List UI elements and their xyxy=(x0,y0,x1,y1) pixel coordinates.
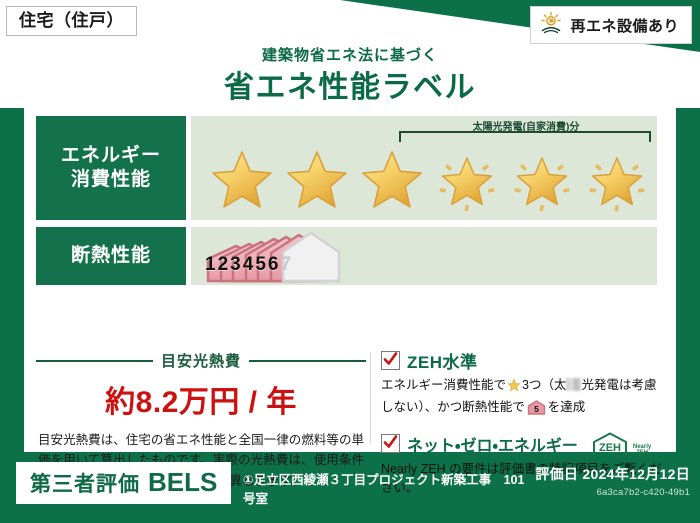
zeh-logo-icon: ZEH Nearly ZEH xyxy=(589,431,651,457)
insulation-level-1: 1 xyxy=(205,254,216,283)
evaluation-date: 評価日 2024年12月12日 xyxy=(535,464,690,484)
zeh-desc-part5: を達成 xyxy=(548,400,586,414)
zeh-desc-part2: 3つ（太 xyxy=(522,378,566,392)
zeh-desc-part3: 光発電 xyxy=(581,378,619,392)
star-5-solar xyxy=(505,142,579,216)
insulation-level-1-number: 1 xyxy=(205,254,216,283)
zeh-standard-checkbox[interactable] xyxy=(381,351,400,370)
insulation-level-6-number: 6 xyxy=(268,254,279,283)
star-rating xyxy=(205,142,654,216)
star-1 xyxy=(205,142,279,216)
insulation-level-3-number: 3 xyxy=(230,254,241,283)
zeh-section: ZEH水準 エネルギー消費性能で3つ（太光発電は考慮しない）、かつ断熱性能で5を… xyxy=(381,348,663,448)
inline-star-icon xyxy=(507,378,521,398)
label-card: エネルギー 消費性能 太陽光発電(自家消費)分 xyxy=(24,104,676,452)
energy-performance-label-box: エネルギー 消費性能 xyxy=(36,116,186,220)
insulation-level-7: 7 xyxy=(280,254,291,283)
renewable-equipment-badge: 再エネ設備あり xyxy=(530,6,692,44)
evaluation-info: 評価日 2024年12月12日 6a3ca7b2-c420-49b1 xyxy=(535,464,690,498)
svg-text:ZEH: ZEH xyxy=(599,442,621,454)
insulation-performance-row: 断熱性能 1 xyxy=(36,227,676,285)
energy-performance-label: 住宅（住戸） 再エネ設備あり 建築物省エネ法に基づく 省エネ性能ラベル xyxy=(0,0,700,523)
utility-cost-value: 約8.2万円 / 年 xyxy=(36,377,366,421)
star-2 xyxy=(280,142,354,216)
energy-label-line2: 消費性能 xyxy=(61,168,161,192)
insulation-label-box: 断熱性能 xyxy=(36,227,186,285)
insulation-level-5: 5 xyxy=(255,254,266,283)
net-zero-checkbox[interactable] xyxy=(381,434,400,453)
insulation-level-4-number: 4 xyxy=(243,254,254,283)
insulation-level-3: 3 xyxy=(230,254,241,283)
bels-en-label: BELS xyxy=(148,467,217,498)
zeh-standard-title: ZEH水準 xyxy=(407,348,478,373)
renewable-badge-label: 再エネ設備あり xyxy=(570,15,679,36)
star-4-solar xyxy=(430,142,504,216)
inline-insulation-badge: 5 xyxy=(527,400,546,421)
label-details: 目安光熱費 約8.2万円 / 年 目安光熱費は、住宅の省エネ性能と全国一律の燃料… xyxy=(36,348,664,448)
bels-jp-label: 第三者評価 xyxy=(30,468,140,498)
zeh-standard-description: エネルギー消費性能で3つ（太光発電は考慮しない）、かつ断熱性能で5を達成 xyxy=(381,376,663,422)
star-3 xyxy=(355,142,429,216)
label-title: 省エネ性能ラベル xyxy=(0,62,700,106)
svg-text:5: 5 xyxy=(534,405,539,415)
column-divider xyxy=(370,352,371,444)
insulation-panel: 1 2 3 xyxy=(191,227,657,285)
label-footer: 第三者評価 BELS ①足立区西綾瀬３丁目プロジェクト新築工事 101号室 評価… xyxy=(0,458,700,523)
insulation-level-2: 2 xyxy=(218,254,229,283)
net-zero-row: ネット・ゼロ・エネルギー ZEH Nearly ZEH xyxy=(381,431,663,457)
energy-performance-row: エネルギー 消費性能 太陽光発電(自家消費)分 xyxy=(36,116,676,220)
bels-certification-badge: 第三者評価 BELS xyxy=(16,462,231,504)
star-6-solar xyxy=(580,142,654,216)
zeh-desc-part1: エネルギー消費性能で xyxy=(381,378,506,392)
sun-icon xyxy=(539,11,563,40)
evaluation-id: 6a3ca7b2-c420-49b1 xyxy=(535,487,690,498)
zeh-logo-sublabel: Nearly ZEH xyxy=(633,444,651,457)
insulation-level-7-number: 7 xyxy=(280,254,291,283)
utility-cost-heading-row: 目安光熱費 xyxy=(36,350,366,371)
energy-performance-panel: 太陽光発電(自家消費)分 xyxy=(191,116,657,220)
solar-bracket xyxy=(399,131,651,142)
insulation-level-5-number: 5 xyxy=(255,254,266,283)
zeh-logo-sub-line1: Nearly xyxy=(633,444,651,450)
utility-cost-section: 目安光熱費 約8.2万円 / 年 目安光熱費は、住宅の省エネ性能と全国一律の燃料… xyxy=(36,348,366,448)
insulation-level-scale: 1 2 3 xyxy=(205,254,291,283)
insulation-level-4: 4 xyxy=(243,254,254,283)
utility-cost-heading: 目安光熱費 xyxy=(161,350,241,371)
heading-rule-right xyxy=(249,360,366,362)
property-address: ①足立区西綾瀬３丁目プロジェクト新築工事 101号室 xyxy=(243,469,533,507)
insulation-level-6: 6 xyxy=(268,254,279,283)
building-type-tag: 住宅（住戸） xyxy=(6,6,137,36)
energy-label-line1: エネルギー xyxy=(61,144,161,168)
net-zero-title: ネット・ゼロ・エネルギー xyxy=(407,432,578,456)
insulation-level-2-number: 2 xyxy=(218,254,229,283)
redacted-text-block xyxy=(566,378,581,391)
heading-rule-left xyxy=(36,360,153,362)
zeh-logo-sub-line2: ZEH xyxy=(636,450,648,456)
zeh-standard-row: ZEH水準 xyxy=(381,348,663,373)
